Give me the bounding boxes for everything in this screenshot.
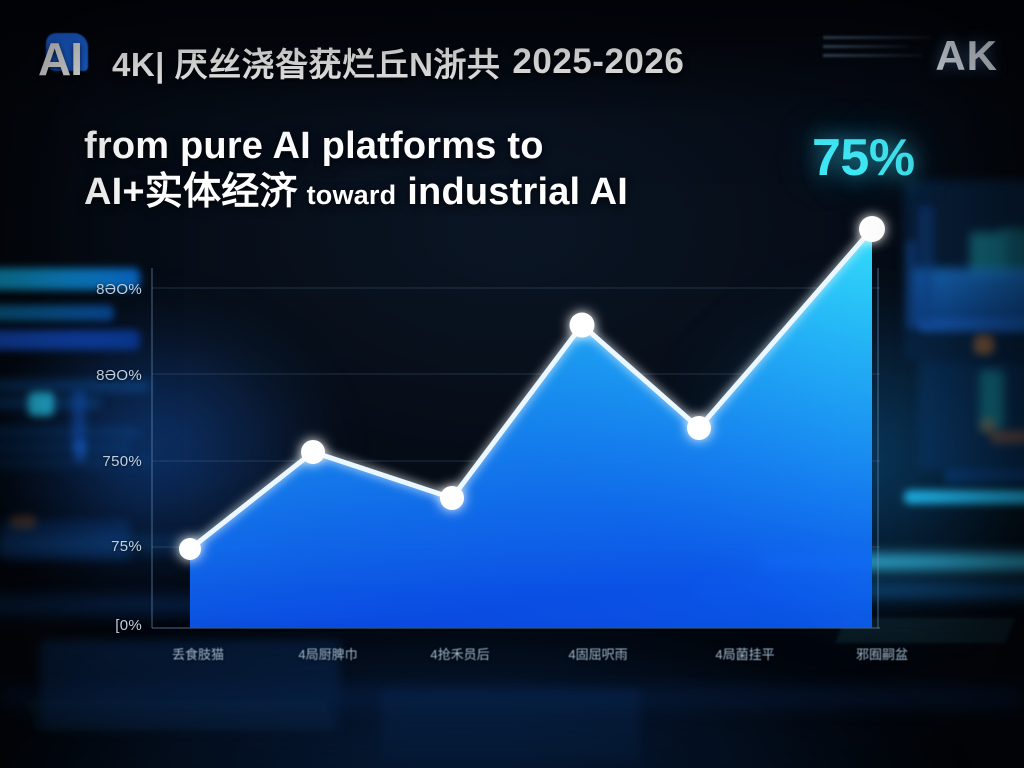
watermark: AK	[823, 28, 998, 84]
data-point	[301, 440, 325, 464]
data-point	[859, 216, 885, 242]
x-axis-label: 4局厨脾巾	[273, 644, 383, 663]
percent-callout: 75%	[812, 128, 915, 188]
x-axis-label: 4抢禾员后	[405, 644, 515, 663]
subtitle-line-2: AI+实体经济 toward industrial AI	[84, 169, 628, 218]
subtitle-line2-mid: toward	[300, 172, 406, 218]
poster-canvas: 8ƏO% 8ƏO% 750% 75% [0% 丢食肢猫 4局厨脾巾 4抢禾员后 …	[0, 0, 1024, 768]
x-axis-label: 邪囿嗣盆	[827, 644, 937, 663]
subtitle-line2-start: AI+实体经济	[84, 169, 298, 215]
data-point	[179, 538, 201, 560]
subtitle-line-1: from pure AI platforms to	[84, 123, 628, 169]
y-axis-label: 8ƏO%	[72, 367, 142, 384]
y-axis-label: 8ƏO%	[72, 281, 142, 298]
y-axis-label: 75%	[72, 538, 142, 555]
x-axis-label: 4局菌挂平	[690, 644, 800, 663]
y-axis-label: 750%	[72, 453, 142, 470]
header-title-row: 4K| 厌丝浇昝莸烂丘N浙共 2025-2026	[112, 38, 684, 86]
watermark-label: AK	[935, 28, 998, 84]
page-title-garbled: 4K| 厌丝浇昝莸烂丘N浙共	[112, 38, 500, 86]
watermark-text-lines	[823, 36, 931, 76]
y-axis-label: [0%	[72, 617, 142, 634]
x-axis-label: 丢食肢猫	[143, 644, 253, 663]
subtitle-block: from pure AI platforms to AI+实体经济 toward…	[84, 123, 628, 218]
data-point	[687, 416, 711, 440]
subtitle-line2-end: industrial AI	[407, 169, 628, 215]
x-axis-label: 4固屈呎雨	[543, 644, 653, 663]
page-title-years: 2025-2026	[512, 42, 684, 82]
data-point	[570, 313, 595, 338]
data-point	[440, 486, 464, 510]
chart-area-highlight	[190, 229, 872, 628]
